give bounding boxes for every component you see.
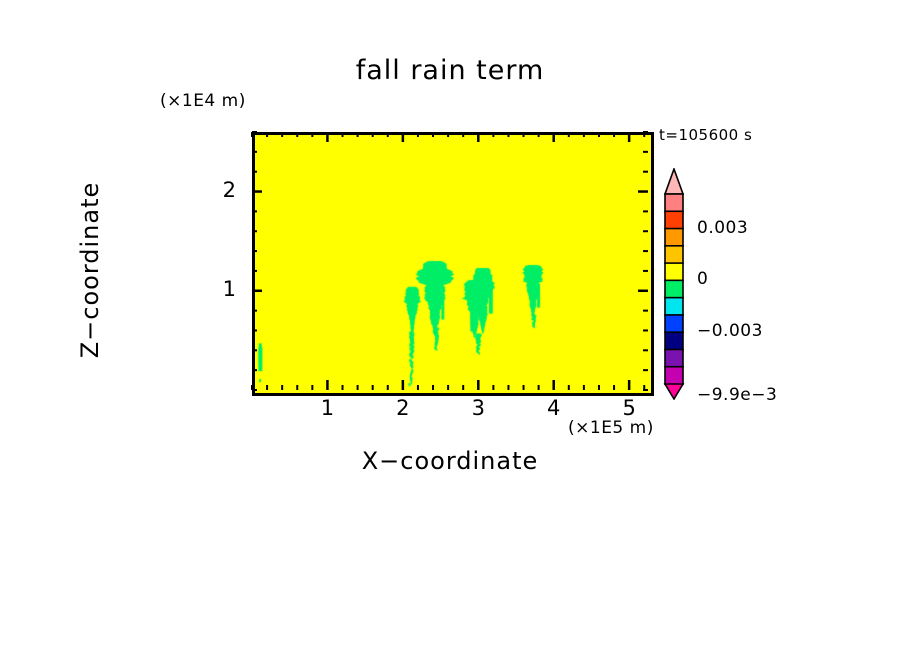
x-tick-label: 4 [539, 396, 569, 420]
colorbar [661, 168, 687, 400]
y-axis-title: Z−coordinate [76, 120, 104, 420]
y-tick-label: 1 [196, 277, 236, 301]
x-tick-label: 1 [312, 396, 342, 420]
contour-plot-figure: fall rain term (×1E4 m) (×1E5 m) t=10560… [0, 0, 904, 654]
colorbar-label: 0.003 [697, 218, 748, 238]
colorbar-swatches [661, 168, 687, 400]
time-stamp-annotation: t=105600 s [659, 126, 752, 144]
colorbar-label: −9.9e−3 [697, 385, 777, 405]
x-axis-title: X−coordinate [252, 447, 648, 475]
colorbar-label: 0 [697, 269, 708, 289]
x-tick-label: 2 [388, 396, 418, 420]
x-tick-label: 5 [614, 396, 644, 420]
y-tick-label: 2 [196, 178, 236, 202]
plot-field-area [252, 132, 654, 396]
page-title: fall rain term [252, 55, 648, 86]
x-tick-label: 3 [463, 396, 493, 420]
contour-field-canvas [255, 135, 651, 393]
y-axis-units-caption: (×1E4 m) [160, 91, 246, 111]
x-axis-units-caption: (×1E5 m) [568, 418, 654, 438]
colorbar-label: −0.003 [697, 321, 763, 341]
